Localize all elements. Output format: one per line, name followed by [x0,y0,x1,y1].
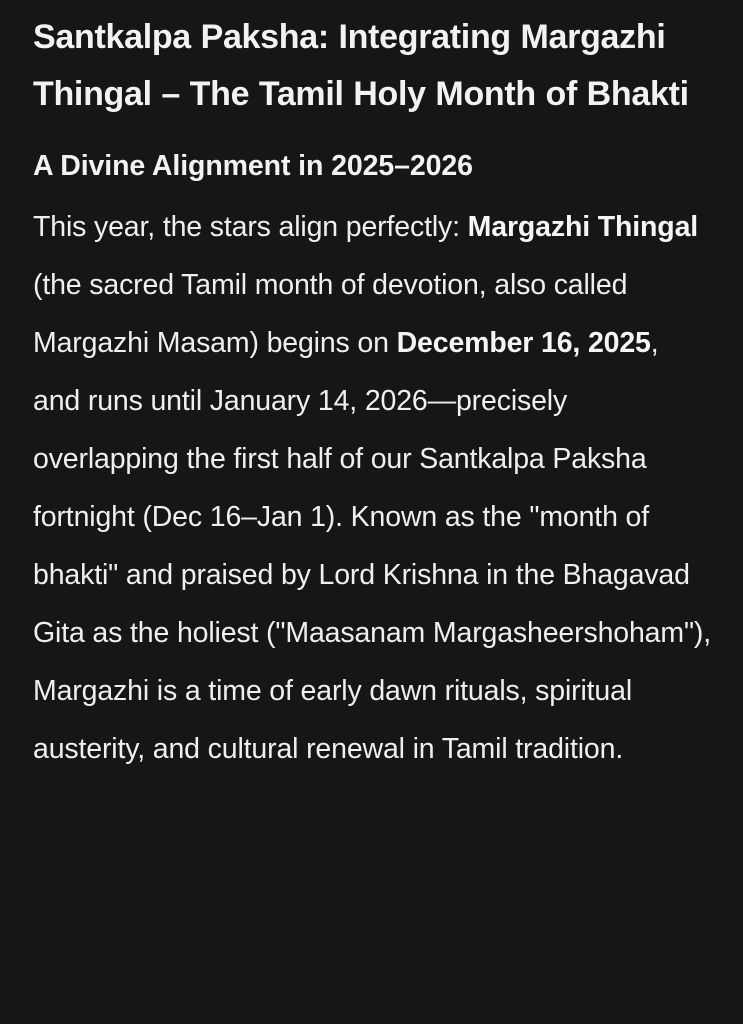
text-run: This year, the stars align perfectly: [33,211,468,243]
section-subheading: A Divine Alignment in 2025–2026 [33,123,713,187]
emphasized-text-run: December 16, 2025 [397,327,651,359]
emphasized-text-run: Margazhi Thingal [468,211,698,243]
text-run: , and runs until January 14, 2026—precis… [33,327,711,765]
article-body-paragraph: This year, the stars align perfectly: Ma… [33,187,713,778]
article-container: Santkalpa Paksha: Integrating Margazhi T… [0,0,743,1024]
page-title: Santkalpa Paksha: Integrating Margazhi T… [33,0,713,123]
